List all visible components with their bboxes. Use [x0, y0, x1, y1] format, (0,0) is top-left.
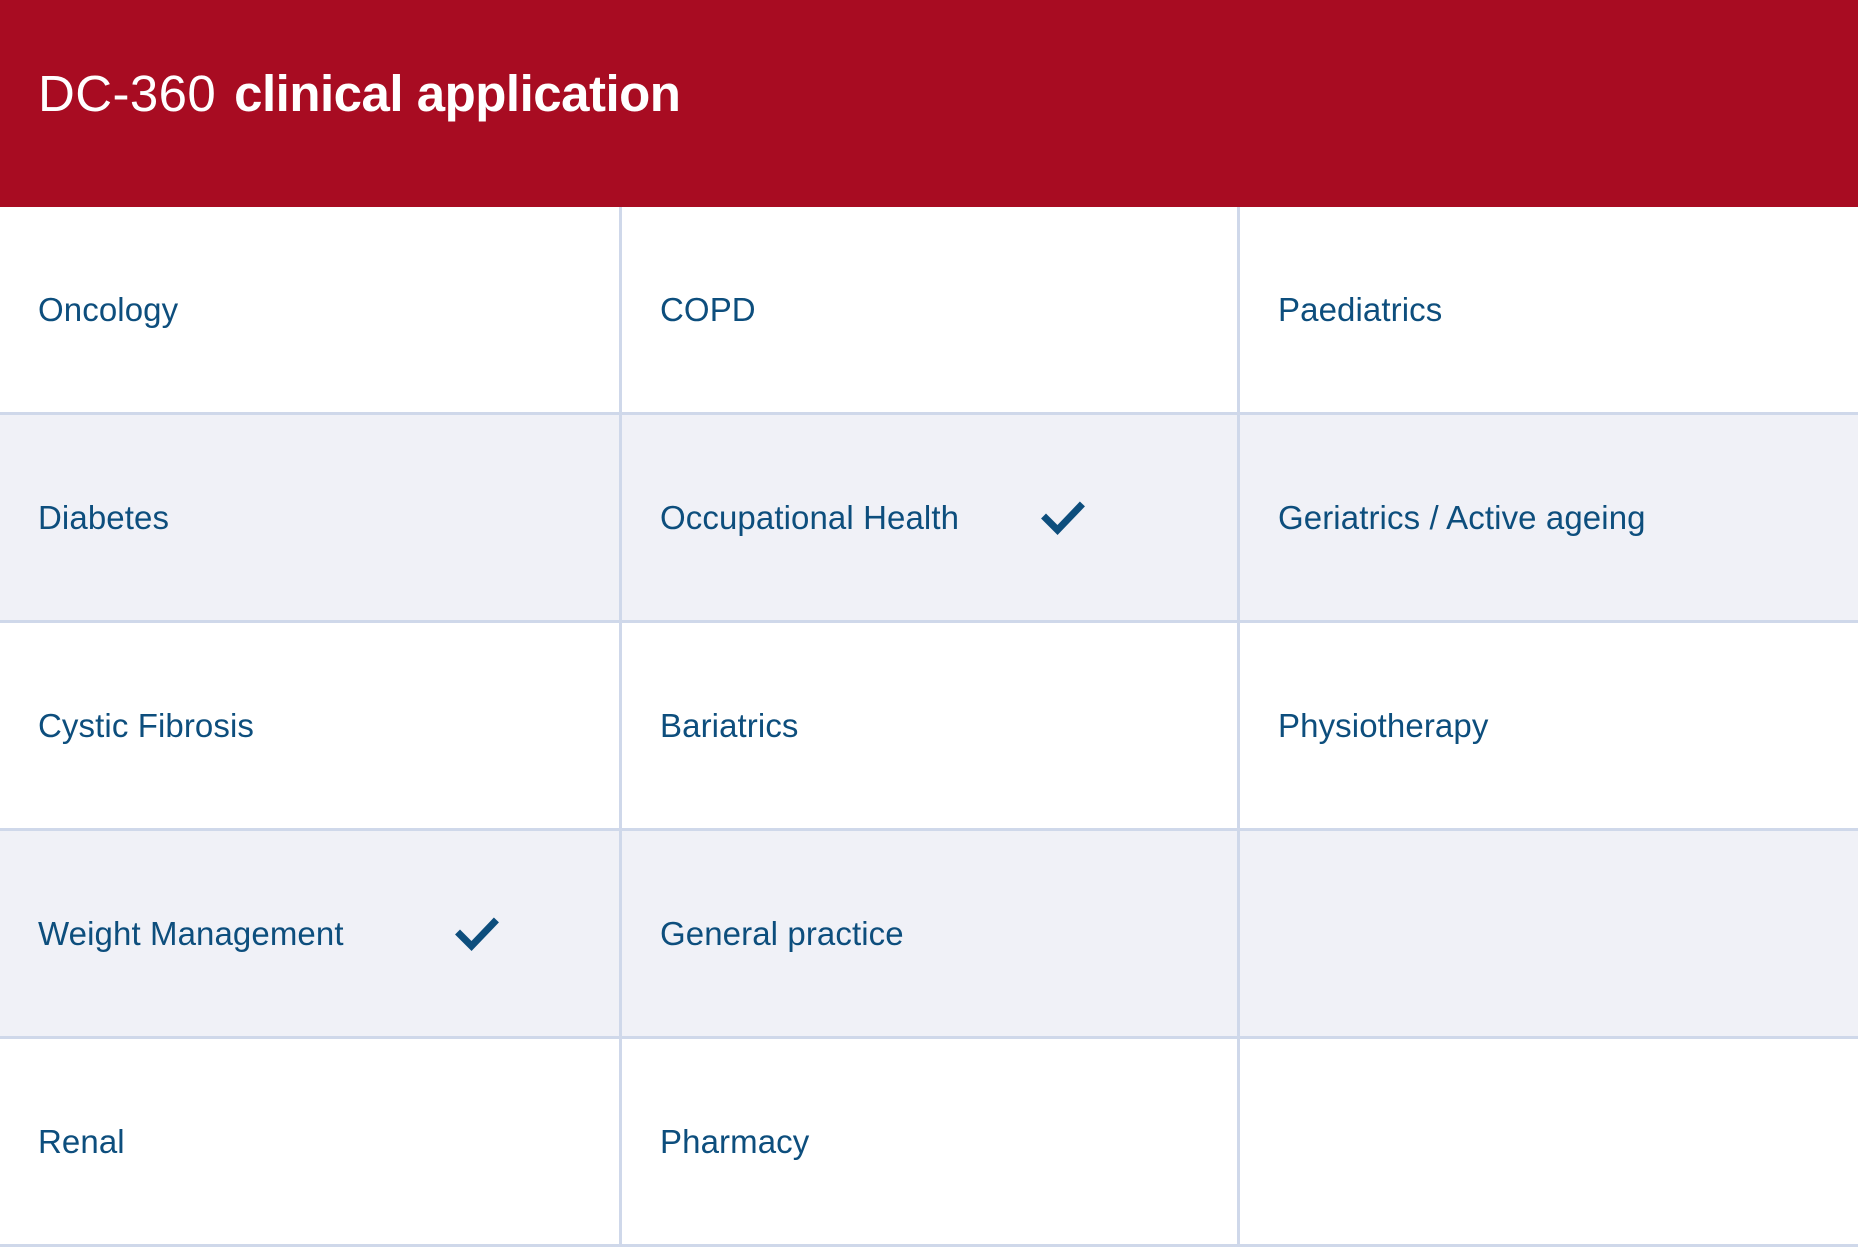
- table-cell[interactable]: Physiotherapy: [1240, 623, 1858, 828]
- clinical-application-label: Cystic Fibrosis: [38, 706, 254, 746]
- table-cell-empty: [1240, 831, 1858, 1036]
- clinical-application-label: Paediatrics: [1278, 290, 1442, 330]
- clinical-application-label: Renal: [38, 1122, 125, 1162]
- table-cell[interactable]: General practice: [622, 831, 1240, 1036]
- clinical-application-label: COPD: [660, 290, 756, 330]
- table-row: DiabetesOccupational HealthGeriatrics / …: [0, 415, 1858, 623]
- clinical-application-label: Physiotherapy: [1278, 706, 1488, 746]
- page-title-product: DC-360: [38, 65, 216, 122]
- table-cell-empty: [1240, 1039, 1858, 1244]
- clinical-application-label: General practice: [660, 914, 904, 954]
- table-cell[interactable]: Oncology: [0, 207, 622, 412]
- table-cell[interactable]: Diabetes: [0, 415, 622, 620]
- clinical-application-label: Pharmacy: [660, 1122, 809, 1162]
- table-cell[interactable]: Bariatrics: [622, 623, 1240, 828]
- table-row: Cystic FibrosisBariatricsPhysiotherapy: [0, 623, 1858, 831]
- header-band: DC-360clinical application: [0, 0, 1858, 207]
- clinical-application-slide: DC-360clinical application OncologyCOPDP…: [0, 0, 1858, 1250]
- table-row: OncologyCOPDPaediatrics: [0, 207, 1858, 415]
- clinical-application-label: Bariatrics: [660, 706, 799, 746]
- table-cell[interactable]: Weight Management: [0, 831, 622, 1036]
- clinical-application-label: Oncology: [38, 290, 178, 330]
- table-cell[interactable]: Pharmacy: [622, 1039, 1240, 1244]
- check-icon: [453, 910, 501, 958]
- page-title: DC-360clinical application: [38, 62, 680, 126]
- table-cell[interactable]: Cystic Fibrosis: [0, 623, 622, 828]
- table-cell[interactable]: COPD: [622, 207, 1240, 412]
- page-title-subject: clinical application: [234, 65, 680, 122]
- clinical-application-label: Weight Management: [38, 914, 344, 954]
- table-cell[interactable]: Geriatrics / Active ageing: [1240, 415, 1858, 620]
- table-cell[interactable]: Paediatrics: [1240, 207, 1858, 412]
- table-row: RenalPharmacy: [0, 1039, 1858, 1247]
- clinical-application-label: Occupational Health: [660, 498, 959, 538]
- table-cell[interactable]: Occupational Health: [622, 415, 1240, 620]
- clinical-application-grid: OncologyCOPDPaediatricsDiabetesOccupatio…: [0, 207, 1858, 1250]
- clinical-application-label: Diabetes: [38, 498, 169, 538]
- table-cell[interactable]: Renal: [0, 1039, 622, 1244]
- table-row: Weight ManagementGeneral practice: [0, 831, 1858, 1039]
- clinical-application-label: Geriatrics / Active ageing: [1278, 498, 1646, 538]
- check-icon: [1039, 494, 1087, 542]
